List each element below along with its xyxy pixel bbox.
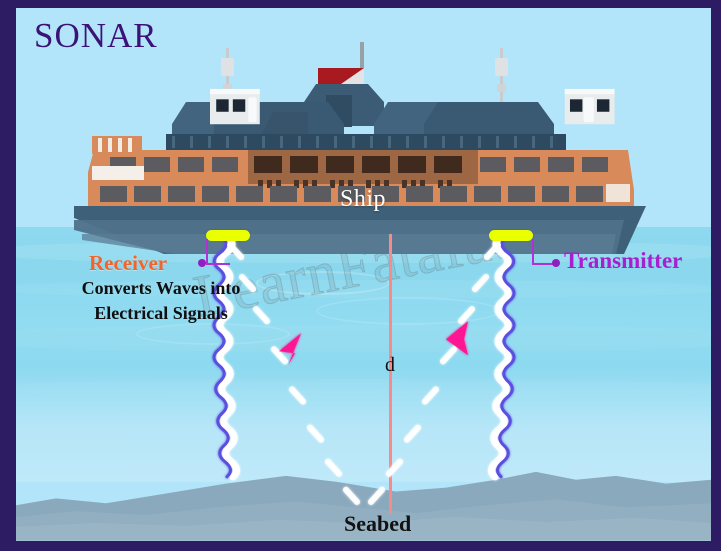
antenna-left	[221, 48, 234, 110]
page-title: SONAR	[34, 16, 158, 56]
receiver-marker-dot	[198, 259, 206, 267]
transmitter-label: Transmitter	[564, 248, 682, 274]
deep-water-gradient	[16, 365, 711, 482]
receiver-transducer-icon[interactable]	[206, 230, 250, 241]
receiver-description: Converts Waves into Electrical Signals	[56, 276, 266, 326]
diagram-stage: LearnFatafat	[16, 8, 711, 541]
ship-illustration: Ship	[68, 40, 658, 235]
ship-label: Ship	[68, 186, 658, 213]
diagram-frame: LearnFatafat	[0, 0, 721, 551]
sea-band	[16, 325, 711, 352]
seabed-label: Seabed	[344, 511, 411, 537]
transmitter-transducer-icon[interactable]	[489, 230, 533, 241]
depth-label: d	[385, 354, 395, 377]
receiver-label: Receiver	[89, 251, 167, 276]
antenna-right	[495, 48, 508, 110]
transmitter-marker-dot	[552, 259, 560, 267]
